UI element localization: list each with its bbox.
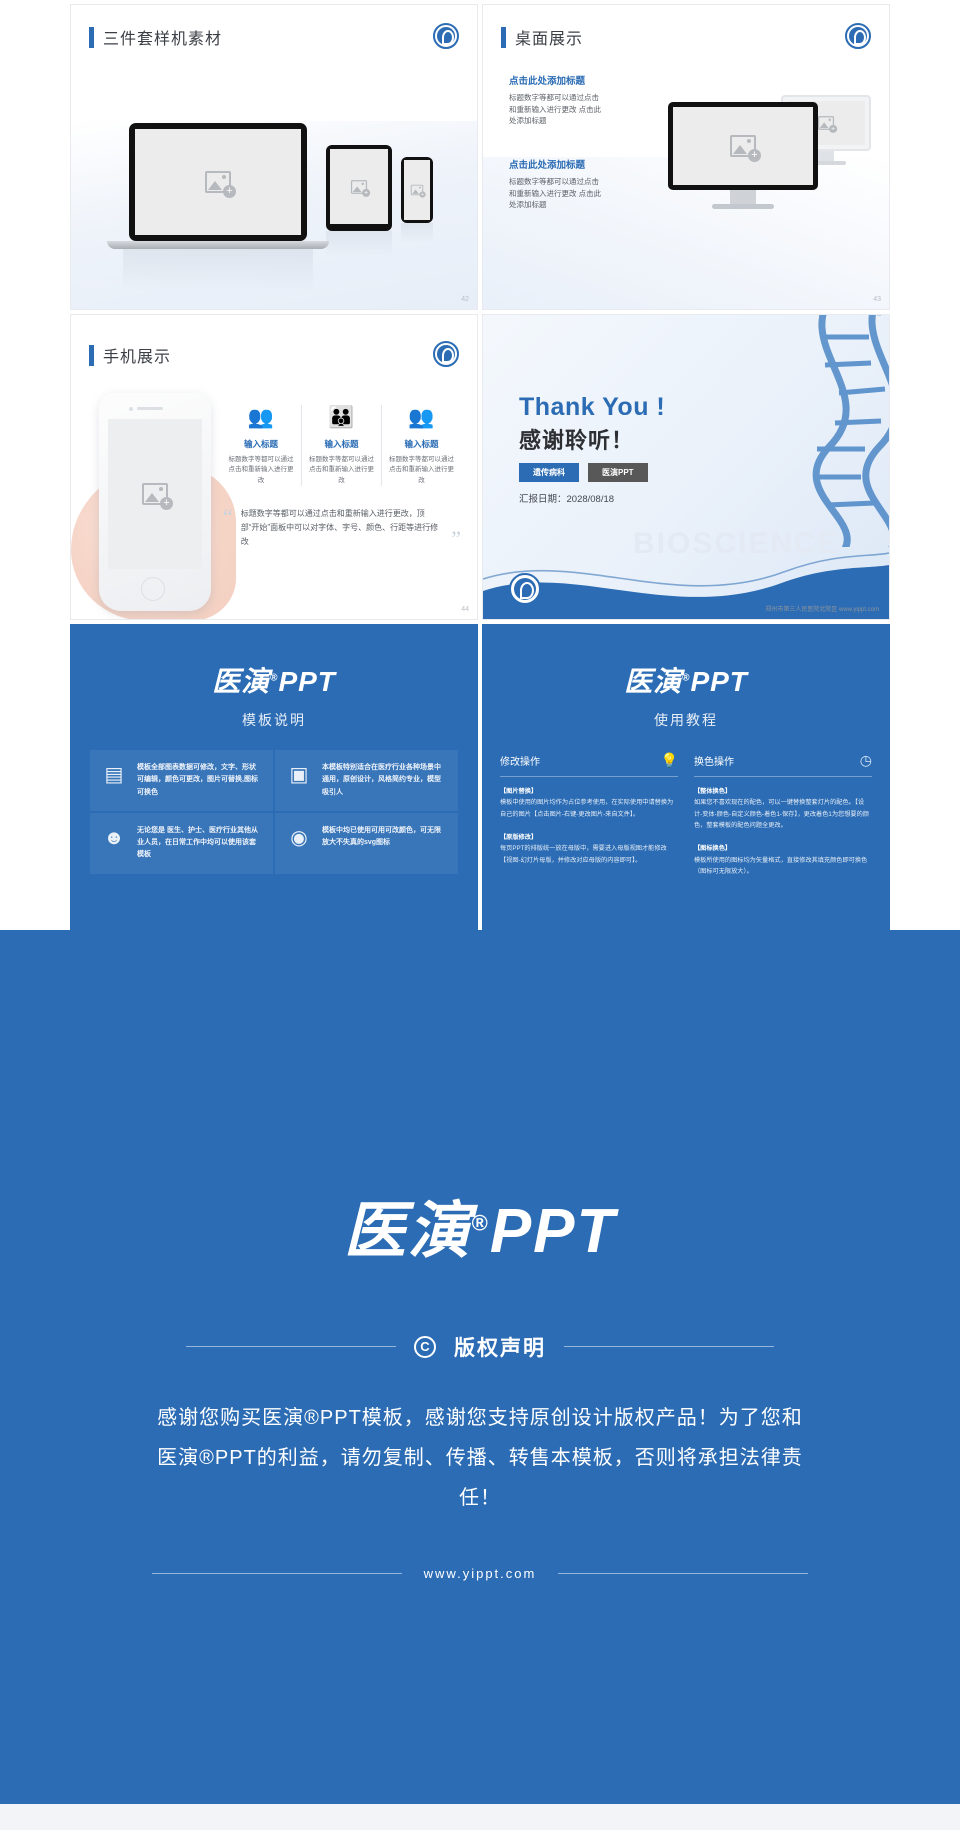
brand-logo-text: 医演®PPT [212,660,336,700]
tablet-mockup: + [326,145,392,257]
card-text: 模板中均已使用可用可改颜色，可无限放大不失真的svg图标 [322,825,447,850]
hospital-logo [433,23,459,49]
quote-open-icon: “ [223,507,233,549]
quote-close-icon: ” [451,529,461,549]
column-heading: 换色操作 [694,753,734,768]
slide-template-description[interactable]: 医演®PPT 模板说明 ▤ 模板全部图表数据可修改，文字、形状可编辑，颜色可更改… [70,624,478,930]
description-card[interactable]: ▤ 模板全部图表数据可修改，文字、形状可编辑，颜色可更改，图片可替换,图标可换色 [90,750,273,811]
palette-icon: ◷ [860,752,872,769]
user-icon: ☻ [101,825,127,851]
people-check-icon: 👥 [227,405,295,431]
section-title: 【图标换色】 [694,845,731,852]
divider-right [558,1573,808,1574]
copyright-body: 感谢您购买医演®PPT模板，感谢您支持原创设计版权产品！为了您和 医演®PPT的… [150,1398,810,1518]
block-body: 标题数字等都可以通过点击和重新输入进行更改 点击此处添加标题 [509,176,605,211]
thankyou-title-en: Thank You ! [519,393,665,422]
report-date: 汇报日期：2028/08/18 [519,491,614,505]
block-heading: 点击此处添加标题 [509,73,605,87]
copyright-heading: 版权声明 [454,1332,546,1362]
section-body: 如果您不喜欢现在的配色，可以一键替换整套灯片的配色。【设计-变体-颜色-自定义颜… [694,797,872,831]
image-placeholder-icon: + [205,171,231,193]
image-placeholder-icon: + [730,135,756,157]
feature-body: 标题数字等都可以通过点击和重新输入进行更改 [308,455,375,486]
primary-monitor-mockup: + [668,102,818,209]
copyright-body-line-2: 医演®PPT的利益，请勿复制、传播、转售本模板，否则将承担法律责任！ [150,1438,810,1518]
slide-page-number: 44 [461,606,469,613]
quote-block: “ 标题数字等都可以通过点击和重新输入进行更改，顶部“开始”面板中可以对字体、字… [223,507,461,549]
tutorial-column-recolor: 换色操作 ◷ 【整体换色】 如果您不喜欢现在的配色，可以一键替换整套灯片的配色。… [694,752,872,878]
slide-page-number: 42 [461,296,469,303]
page-title: 三件套样机素材 [103,25,222,49]
tutorial-column-edit: 修改操作 💡 【图片替换】 模板中使用的图片均作为占位参考使用，在实际使用中请替… [500,752,678,878]
image-placeholder-icon: + [142,483,168,505]
section-title: 【原版修改】 [500,834,537,841]
divider-right [564,1346,774,1347]
feature-heading: 输入标题 [227,438,295,450]
slide-footer-text: 郑州市第三人民医院北院区 www.yippt.com [765,604,879,613]
people-team-icon: 👥 [388,405,455,431]
brand-tag[interactable]: 医演PPT [588,463,648,482]
people-group-icon: 👪 [308,405,375,431]
text-block-2: 点击此处添加标题 标题数字等都可以通过点击和重新输入进行更改 点击此处添加标题 [509,157,605,211]
tutorial-columns: 修改操作 💡 【图片替换】 模板中使用的图片均作为占位参考使用，在实际使用中请替… [500,752,872,878]
column-body: 【图片替换】 模板中使用的图片均作为占位参考使用，在实际使用中请替换为自己的图片… [500,786,678,866]
department-tag[interactable]: 遗传病科 [519,463,579,482]
title-accent-bar [89,27,94,48]
brand-logo-text: 医演®PPT [344,1180,617,1270]
hospital-logo [433,341,459,367]
slide-title-row: 桌面展示 [501,25,583,49]
feature-item[interactable]: 👥 输入标题 标题数字等都可以通过点击和重新输入进行更改 [221,405,301,486]
slide-thank-you[interactable]: BIOSCIENCE Thank You ! 感谢聆听！ 遗传病科 医演PPT … [482,314,890,620]
block-heading: 点击此处添加标题 [509,157,605,171]
slide-thumbnail-grid: 三件套样机素材 + + [0,0,960,930]
phone-in-hand-mockup: + [99,393,211,611]
dna-helix-graphic [689,315,889,547]
card-text: 无论您是 医生、护士、医疗行业其他从业人员，在日常工作中均可以使用该套模板 [137,825,262,862]
quote-text: 标题数字等都可以通过点击和重新输入进行更改，顶部“开始”面板中可以对字体、字号、… [241,507,443,549]
book-icon: ▤ [101,762,127,788]
hospital-logo [845,23,871,49]
title-accent-bar [501,27,506,48]
feature-body: 标题数字等都可以通过点击和重新输入进行更改 [388,455,455,486]
divider-left [152,1573,402,1574]
slide-page-number: 43 [873,296,881,303]
page-title: 桌面展示 [515,25,583,49]
feature-item[interactable]: 👥 输入标题 标题数字等都可以通过点击和重新输入进行更改 [381,405,461,486]
column-header: 换色操作 ◷ [694,752,872,777]
slide-mobile-display[interactable]: 手机展示 + 👥 输入标题 标题数字等都可以通过点击和重新输入进行更改 [70,314,478,620]
copyright-heading-row: C 版权声明 [186,1332,774,1362]
tag-row: 遗传病科 医演PPT [519,463,648,482]
feature-columns: 👥 输入标题 标题数字等都可以通过点击和重新输入进行更改 👪 输入标题 标题数字… [221,405,461,486]
brand-logo-text: 医演®PPT [624,660,748,700]
page-title: 手机展示 [103,343,171,367]
slide-three-piece-mockup[interactable]: 三件套样机素材 + + [70,4,478,310]
copyright-icon: C [414,1336,436,1358]
website-url[interactable]: www.yippt.com [424,1566,537,1581]
description-card-grid: ▤ 模板全部图表数据可修改，文字、形状可编辑，颜色可更改，图片可替换,图标可换色… [90,750,458,874]
slide-subtitle: 模板说明 [242,710,306,730]
description-card[interactable]: ▣ 本模板特别适合在医疗行业各种场景中通用，原创设计，风格简约专业，模型吸引人 [275,750,458,811]
section-title: 【图片替换】 [500,788,537,795]
dribbble-icon: ◉ [286,825,312,851]
block-body: 标题数字等都可以通过点击和重新输入进行更改 点击此处添加标题 [509,92,605,127]
slide-copyright-statement[interactable]: 医演®PPT C 版权声明 感谢您购买医演®PPT模板，感谢您支持原创设计版权产… [0,930,960,1830]
laptop-mockup: + [129,123,329,291]
phone-mockup: + [401,157,433,243]
feature-heading: 输入标题 [308,438,375,450]
url-row: www.yippt.com [152,1566,809,1581]
description-card[interactable]: ◉ 模板中均已使用可用可改颜色，可无限放大不失真的svg图标 [275,813,458,874]
card-text: 模板全部图表数据可修改，文字、形状可编辑，颜色可更改，图片可替换,图标可换色 [137,762,262,799]
section-body: 每页PPT的排版统一放在母版中，需要进入母版视图才能修改【视图-幻灯片母版，并修… [500,843,678,866]
text-block-1: 点击此处添加标题 标题数字等都可以通过点击和重新输入进行更改 点击此处添加标题 [509,73,605,127]
slide-title-row: 三件套样机素材 [89,25,222,49]
feature-heading: 输入标题 [388,438,455,450]
column-header: 修改操作 💡 [500,752,678,777]
title-accent-bar [89,345,94,366]
thankyou-background: BIOSCIENCE Thank You ! 感谢聆听！ 遗传病科 医演PPT … [483,315,889,619]
feature-body: 标题数字等都可以通过点击和重新输入进行更改 [227,455,295,486]
slide-title-row: 手机展示 [89,343,171,367]
section-body: 模板所使用的图标均为矢量格式，直接修改其填充颜色即可换色（图标可无限放大）。 [694,855,872,878]
image-placeholder-icon: + [818,116,834,130]
bottom-strip [0,1804,960,1830]
slide-usage-tutorial[interactable]: 医演®PPT 使用教程 修改操作 💡 【图片替换】 模板中使用的图片均作为占位参… [482,624,890,930]
bulb-icon: 💡 [661,752,678,769]
divider-left [186,1346,396,1347]
column-heading: 修改操作 [500,753,540,768]
section-title: 【整体换色】 [694,788,731,795]
image-placeholder-icon: + [351,180,367,194]
section-body: 模板中使用的图片均作为占位参考使用，在实际使用中请替换为自己的图片【点击图片-右… [500,797,678,820]
card-text: 本模板特别适合在医疗行业各种场景中通用，原创设计，风格简约专业，模型吸引人 [322,762,447,799]
image-placeholder-icon: + [411,185,423,196]
feature-item[interactable]: 👪 输入标题 标题数字等都可以通过点击和重新输入进行更改 [301,405,381,486]
copyright-body-line-1: 感谢您购买医演®PPT模板，感谢您支持原创设计版权产品！为了您和 [150,1398,810,1438]
box-icon: ▣ [286,762,312,788]
thankyou-title-cn: 感谢聆听！ [519,423,634,455]
ppt-preview-page: 三件套样机素材 + + [0,0,960,1830]
hospital-logo [509,573,541,605]
column-body: 【整体换色】 如果您不喜欢现在的配色，可以一键替换整套灯片的配色。【设计-变体-… [694,786,872,878]
description-card[interactable]: ☻ 无论您是 医生、护士、医疗行业其他从业人员，在日常工作中均可以使用该套模板 [90,813,273,874]
slide-desktop-display[interactable]: 桌面展示 点击此处添加标题 标题数字等都可以通过点击和重新输入进行更改 点击此处… [482,4,890,310]
slide-subtitle: 使用教程 [654,710,718,730]
